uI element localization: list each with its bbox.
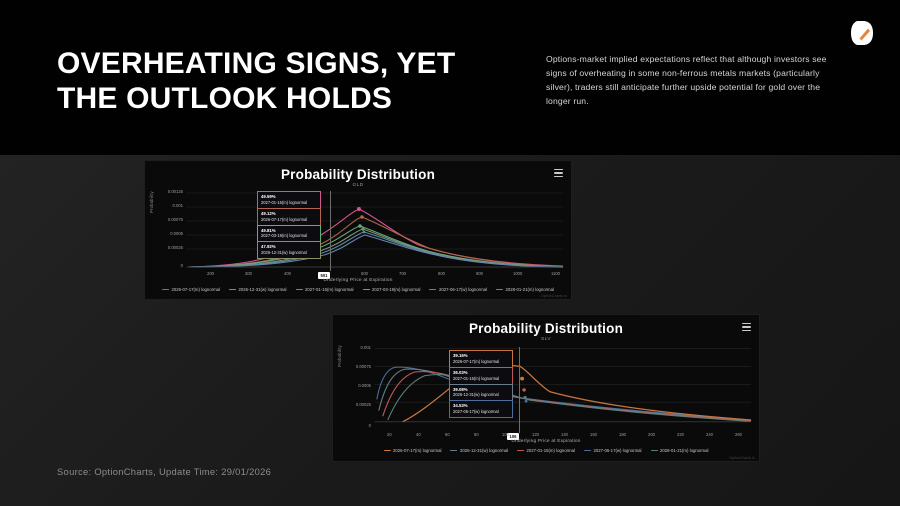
x-tick-slv-2: 60: [445, 432, 450, 437]
legend-swatch-icon: [429, 289, 436, 290]
legend-swatch-icon: [496, 289, 503, 290]
chart-title-gld: Probability Distribution: [145, 167, 571, 182]
tooltip-item: 34.53% 2027-06-17(w) lognormal: [449, 400, 513, 418]
tooltip-series-name: 2027-03-19(m) lognormal: [261, 233, 317, 239]
x-tick-slv-7: 160: [590, 432, 597, 437]
tooltip-item: 49.59% 2027-01-15(m) lognormal: [257, 191, 321, 209]
legend-swatch-icon: [651, 450, 658, 451]
title-line-1: OVERHEATING SIGNS, YET: [57, 46, 507, 81]
x-tick-slv-3: 80: [474, 432, 479, 437]
plot-area-slv: [333, 341, 759, 435]
tooltip-item: 47.92% 2026-12-31(w) lognormal: [257, 241, 321, 259]
tooltip-stack-slv: 39.16% 2026-07-17(m) lognormal 36.03% 20…: [449, 350, 513, 417]
x-tick-gld-1: 300: [245, 271, 252, 276]
x-tick-slv-1: 40: [416, 432, 421, 437]
legend-swatch-icon: [384, 450, 391, 451]
x-axis-label-gld: Underlying Price at Expiration: [145, 278, 571, 283]
chart-title-slv: Probability Distribution: [333, 321, 759, 336]
legend-label: 2027-03-19(m) lognormal: [372, 287, 420, 292]
x-tick-slv-9: 200: [648, 432, 655, 437]
chart-card-slv[interactable]: Probability Distribution SLV Probability…: [332, 314, 760, 462]
legend-swatch-icon: [229, 289, 236, 290]
cursor-line-slv: [519, 347, 520, 433]
legend-item[interactable]: 2026-07-17(m) lognormal: [162, 287, 220, 292]
x-tick-gld-7: 1000: [513, 271, 522, 276]
legend-gld: 2026-07-17(m) lognormal 2026-12-31(w) lo…: [145, 287, 571, 292]
x-tick-gld-8: 1100: [551, 271, 560, 276]
x-tick-slv-0: 20: [387, 432, 392, 437]
hamburger-menu-icon[interactable]: [554, 169, 563, 177]
legend-label: 2027-06-17(w) lognormal: [439, 287, 487, 292]
legend-label: 2028-01-21(m) lognormal: [506, 287, 554, 292]
hamburger-menu-icon[interactable]: [742, 323, 751, 331]
tooltip-series-name: 2027-06-17(w) lognormal: [453, 409, 509, 415]
legend-swatch-icon: [363, 289, 370, 290]
page-title: OVERHEATING SIGNS, YET THE OUTLOOK HOLDS: [57, 46, 507, 116]
legend-label: 2027-06-17(w) lognormal: [593, 448, 641, 453]
brand-logo: [846, 18, 876, 48]
tooltip-series-name: 2026-12-31(w) lognormal: [453, 392, 509, 398]
x-tick-slv-4: 100: [502, 432, 509, 437]
x-tick-gld-4: 700: [399, 271, 406, 276]
legend-swatch-icon: [450, 450, 457, 451]
legend-item[interactable]: 2028-01-21(m) lognormal: [496, 287, 554, 292]
x-tick-slv-8: 180: [619, 432, 626, 437]
legend-item[interactable]: 2026-07-17(m) lognormal: [384, 448, 442, 453]
plot-area-gld: [145, 187, 571, 281]
legend-item[interactable]: 2026-12-31(w) lognormal: [450, 448, 508, 453]
watermark-slv: OptionCharts.io: [729, 456, 755, 460]
legend-item[interactable]: 2026-12-31(w) lognormal: [229, 287, 287, 292]
legend-label: 2026-12-31(w) lognormal: [460, 448, 508, 453]
legend-label: 2026-07-17(m) lognormal: [393, 448, 441, 453]
tooltip-series-name: 2027-01-15(m) lognormal: [453, 376, 509, 382]
x-tick-gld-3: 600: [361, 271, 368, 276]
x-tick-slv-11: 240: [706, 432, 713, 437]
title-line-2: THE OUTLOOK HOLDS: [57, 81, 507, 116]
legend-slv: 2026-07-17(m) lognormal 2026-12-31(w) lo…: [333, 448, 759, 453]
tooltip-item: 36.03% 2027-01-15(m) lognormal: [449, 367, 513, 385]
slide-root: OVERHEATING SIGNS, YET THE OUTLOOK HOLDS…: [0, 0, 900, 506]
tooltip-series-name: 2026-12-31(w) lognormal: [261, 250, 317, 256]
legend-swatch-icon: [162, 289, 169, 290]
legend-item[interactable]: 2027-01-15(m) lognormal: [517, 448, 575, 453]
watermark-gld: OptionCharts.io: [541, 294, 567, 298]
tooltip-item: 39.08% 2026-12-31(w) lognormal: [449, 384, 513, 402]
tooltip-series-name: 2026-07-17(m) lognormal: [261, 217, 317, 223]
legend-label: 2027-01-15(m) lognormal: [527, 448, 575, 453]
tooltip-item: 49.12% 2026-07-17(m) lognormal: [257, 208, 321, 226]
x-tick-slv-5: 120: [532, 432, 539, 437]
legend-label: 2026-12-31(w) lognormal: [239, 287, 287, 292]
x-tick-gld-0: 200: [207, 271, 214, 276]
x-tick-slv-12: 260: [735, 432, 742, 437]
subtitle-text: Options-market implied expectations refl…: [546, 53, 838, 109]
cursor-line-gld: [330, 191, 331, 271]
source-note: Source: OptionCharts, Update Time: 29/01…: [57, 466, 271, 477]
x-tick-gld-2: 400: [284, 271, 291, 276]
legend-item[interactable]: 2028-01-21(m) lognormal: [651, 448, 709, 453]
legend-item[interactable]: 2027-06-17(w) lognormal: [429, 287, 487, 292]
x-tick-gld-5: 800: [438, 271, 445, 276]
tooltip-stack-gld: 49.59% 2027-01-15(m) lognormal 49.12% 20…: [257, 191, 321, 258]
tooltip-series-name: 2027-01-15(m) lognormal: [261, 200, 317, 206]
legend-label: 2026-07-17(m) lognormal: [172, 287, 220, 292]
legend-item[interactable]: 2027-01-15(m) lognormal: [296, 287, 354, 292]
tooltip-series-name: 2026-07-17(m) lognormal: [453, 359, 509, 365]
legend-item[interactable]: 2027-06-17(w) lognormal: [584, 448, 642, 453]
x-tick-slv-10: 220: [677, 432, 684, 437]
legend-swatch-icon: [296, 289, 303, 290]
tooltip-item: 49.81% 2027-03-19(m) lognormal: [257, 225, 321, 243]
chart-card-gld[interactable]: Probability Distribution GLD Probability…: [144, 160, 572, 300]
legend-label: 2028-01-21(m) lognormal: [660, 448, 708, 453]
legend-item[interactable]: 2027-03-19(m) lognormal: [363, 287, 421, 292]
legend-swatch-icon: [584, 450, 591, 451]
legend-swatch-icon: [517, 450, 524, 451]
tooltip-item: 39.16% 2026-07-17(m) lognormal: [449, 350, 513, 368]
x-tick-slv-6: 140: [561, 432, 568, 437]
x-tick-gld-6: 900: [476, 271, 483, 276]
x-axis-label-slv: Underlying Price at Expiration: [333, 439, 759, 444]
legend-label: 2027-01-15(m) lognormal: [305, 287, 353, 292]
